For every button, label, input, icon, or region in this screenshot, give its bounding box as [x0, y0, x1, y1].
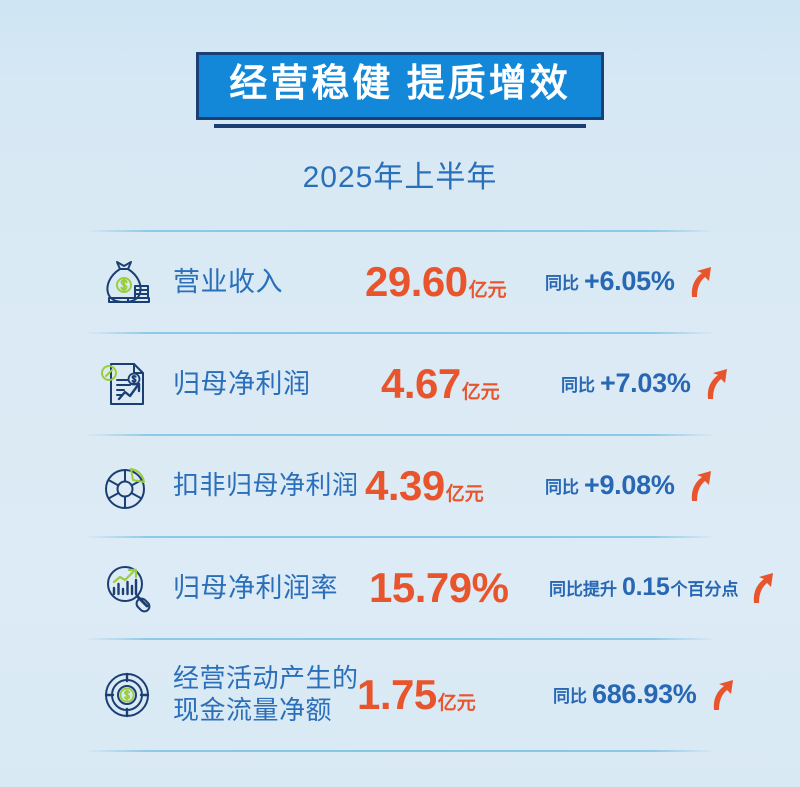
metric-row: 营业收入 29.60亿元 同比 +6.05%: [0, 232, 800, 332]
trend-up-arrow-icon: [685, 265, 715, 299]
metric-label-line2: 现金流量净额: [173, 695, 359, 727]
metric-label-line1: 归母净利润率: [173, 573, 338, 603]
comparison-prefix: 同比: [561, 371, 595, 396]
metric-label-line1: 营业收入: [173, 267, 283, 297]
metric-value: 15.79%: [369, 564, 549, 612]
comparison-value: 0.15: [622, 573, 669, 602]
metric-comparison: 同比 +9.08%: [545, 469, 740, 503]
page-subtitle: 2025年上半年: [0, 152, 800, 196]
metric-label-line1: 扣非归母净利润: [173, 470, 359, 500]
comparison-prefix: 同比: [545, 269, 579, 294]
metric-value-number: 1.75: [357, 671, 437, 718]
target-dollar-icon: [95, 663, 159, 727]
metric-value-unit: 亿元: [462, 382, 500, 403]
comparison-suffix: 个百分点: [670, 575, 738, 600]
banner-underline: [214, 124, 586, 128]
metric-label-line1: 归母净利润: [173, 369, 311, 399]
metric-comparison: 同比 +6.05%: [545, 265, 740, 299]
metric-value: 29.60亿元: [365, 258, 545, 306]
comparison-value: 686.93%: [592, 679, 697, 710]
metric-value-unit: 亿元: [469, 280, 507, 301]
metric-value: 4.67亿元: [381, 360, 561, 408]
metric-row: 归母净利润率 15.79% 同比提升 0.15 个百分点: [0, 538, 800, 638]
metric-label: 经营活动产生的 现金流量净额: [159, 663, 359, 726]
metric-label: 归母净利润: [159, 368, 359, 400]
comparison-prefix: 同比提升: [549, 575, 617, 600]
comparison-value: +7.03%: [600, 368, 691, 399]
metrics-list: 营业收入 29.60亿元 同比 +6.05%: [0, 230, 800, 752]
metric-comparison: 同比提升 0.15 个百分点: [549, 571, 777, 605]
metric-value-unit: 亿元: [446, 484, 484, 505]
comparison-value: +6.05%: [584, 266, 675, 297]
money-bag-icon: [95, 250, 159, 314]
comparison-value: +9.08%: [584, 470, 675, 501]
trend-up-arrow-icon: [707, 678, 737, 712]
trend-up-arrow-icon: [685, 469, 715, 503]
trend-up-arrow-icon: [701, 367, 731, 401]
metric-value-number: 29.60: [365, 258, 468, 305]
metric-label: 归母净利润率: [159, 572, 359, 604]
magnifier-chart-icon: [95, 556, 159, 620]
page-title: 经营稳健 提质增效: [229, 65, 571, 105]
metric-label: 营业收入: [159, 266, 359, 298]
metric-value: 4.39亿元: [365, 462, 545, 510]
metric-value-number: 15.79%: [369, 564, 508, 611]
row-divider: [85, 750, 715, 752]
comparison-prefix: 同比: [553, 682, 587, 707]
metric-comparison: 同比 686.93%: [553, 678, 740, 712]
metric-value-number: 4.39: [365, 462, 445, 509]
comparison-prefix: 同比: [545, 473, 579, 498]
metric-label-line1: 经营活动产生的: [173, 663, 359, 695]
pie-chart-icon: [95, 454, 159, 518]
metric-value-unit: 亿元: [438, 693, 476, 714]
metric-value-number: 4.67: [381, 360, 461, 407]
metric-label: 扣非归母净利润: [159, 470, 371, 501]
trend-up-arrow-icon: [747, 571, 777, 605]
metric-row: 归母净利润 4.67亿元 同比 +7.03%: [0, 334, 800, 434]
title-banner: 经营稳健 提质增效: [196, 52, 604, 120]
metric-row: 扣非归母净利润 4.39亿元 同比 +9.08%: [0, 436, 800, 536]
document-chart-icon: [95, 352, 159, 416]
infographic-poster: 经营稳健 提质增效 2025年上半年: [0, 0, 800, 787]
header: 经营稳健 提质增效 2025年上半年: [0, 0, 800, 196]
metric-row: 经营活动产生的 现金流量净额 1.75亿元 同比 686.93%: [0, 640, 800, 750]
metric-comparison: 同比 +7.03%: [561, 367, 740, 401]
metric-value: 1.75亿元: [357, 671, 537, 719]
